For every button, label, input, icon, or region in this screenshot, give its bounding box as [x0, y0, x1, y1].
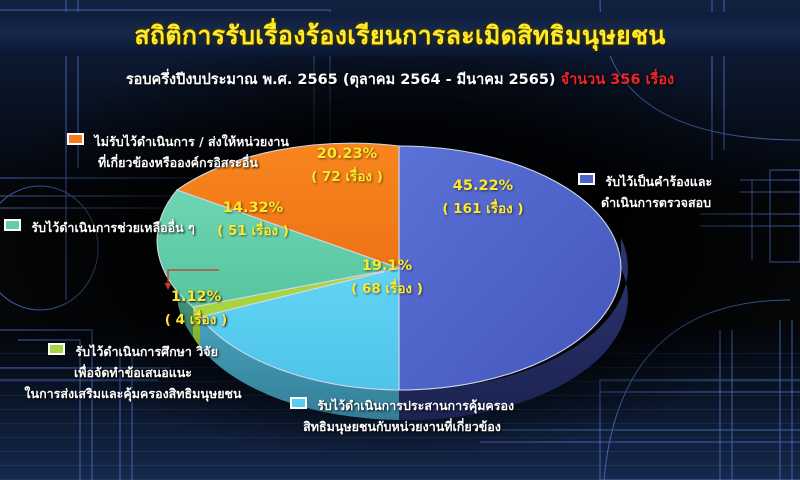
- legend-swatch-blue: [578, 173, 595, 185]
- chart-canvas: สถิติการรับเรื่องร้องเรียนการละเมิดสิทธิ…: [0, 0, 800, 480]
- legend-label-cyan-line1: รับไว้ดำเนินการประสานการคุ้มครอง: [317, 398, 514, 413]
- pie-label-yellowgreen-count: ( 4 เรื่อง ): [140, 308, 252, 330]
- pie-label-blue: 45.22% ( 161 เรื่อง ): [408, 178, 558, 219]
- legend-label-cyan-line2: สิทธิมนุษยชนกับหน่วยงานที่เกี่ยวข้อง: [252, 416, 552, 437]
- pie-label-mint-percent: 14.32%: [192, 200, 314, 216]
- legend-item-cyan[interactable]: รับไว้ดำเนินการประสานการคุ้มครอง สิทธิมน…: [252, 395, 552, 437]
- pie-label-cyan-percent: 19.1%: [322, 258, 452, 274]
- pie-label-cyan: 19.1% ( 68 เรื่อง ): [322, 258, 452, 299]
- legend-item-mint[interactable]: รับไว้ดำเนินการช่วยเหลืออื่น ๆ: [4, 217, 214, 238]
- legend-label-yellowgreen-line3: ในการส่งเสริมและคุ้มครองสิทธิมนุษยชน: [2, 383, 264, 404]
- legend-label-orange-line1: ไม่รับไว้ดำเนินการ / ส่งให้หน่วยงาน: [94, 134, 288, 149]
- legend-label-orange-line2: ที่เกี่ยวข้องหรือองค์กรอิสระอื่น: [48, 152, 308, 173]
- legend-item-orange[interactable]: ไม่รับไว้ดำเนินการ / ส่งให้หน่วยงาน ที่เ…: [48, 131, 308, 173]
- legend-label-mint-line1: รับไว้ดำเนินการช่วยเหลืออื่น ๆ: [31, 220, 194, 235]
- legend-swatch-orange: [67, 133, 84, 145]
- pie-label-yellowgreen-percent: 1.12%: [140, 289, 252, 305]
- legend-label-yellowgreen-line2: เพื่อจัดทำข้อเสนอแนะ: [2, 362, 264, 383]
- legend-label-blue-line2: ดำเนินการตรวจสอบ: [578, 192, 800, 213]
- legend-swatch-mint: [4, 219, 21, 231]
- legend-item-blue[interactable]: รับไว้เป็นคำร้องและ ดำเนินการตรวจสอบ: [578, 171, 800, 213]
- pie-label-blue-count: ( 161 เรื่อง ): [408, 197, 558, 219]
- legend-item-yellowgreen[interactable]: รับไว้ดำเนินการศึกษา วิจัย เพื่อจัดทำข้อ…: [2, 341, 264, 404]
- legend-label-blue-line1: รับไว้เป็นคำร้องและ: [605, 174, 712, 189]
- pie-label-cyan-count: ( 68 เรื่อง ): [322, 277, 452, 299]
- legend-swatch-cyan: [290, 397, 307, 409]
- pie-label-yellowgreen: 1.12% ( 4 เรื่อง ): [140, 289, 252, 330]
- pie-label-blue-percent: 45.22%: [408, 178, 558, 194]
- legend-swatch-yellowgreen: [48, 343, 65, 355]
- legend-label-yellowgreen-line1: รับไว้ดำเนินการศึกษา วิจัย: [75, 344, 218, 359]
